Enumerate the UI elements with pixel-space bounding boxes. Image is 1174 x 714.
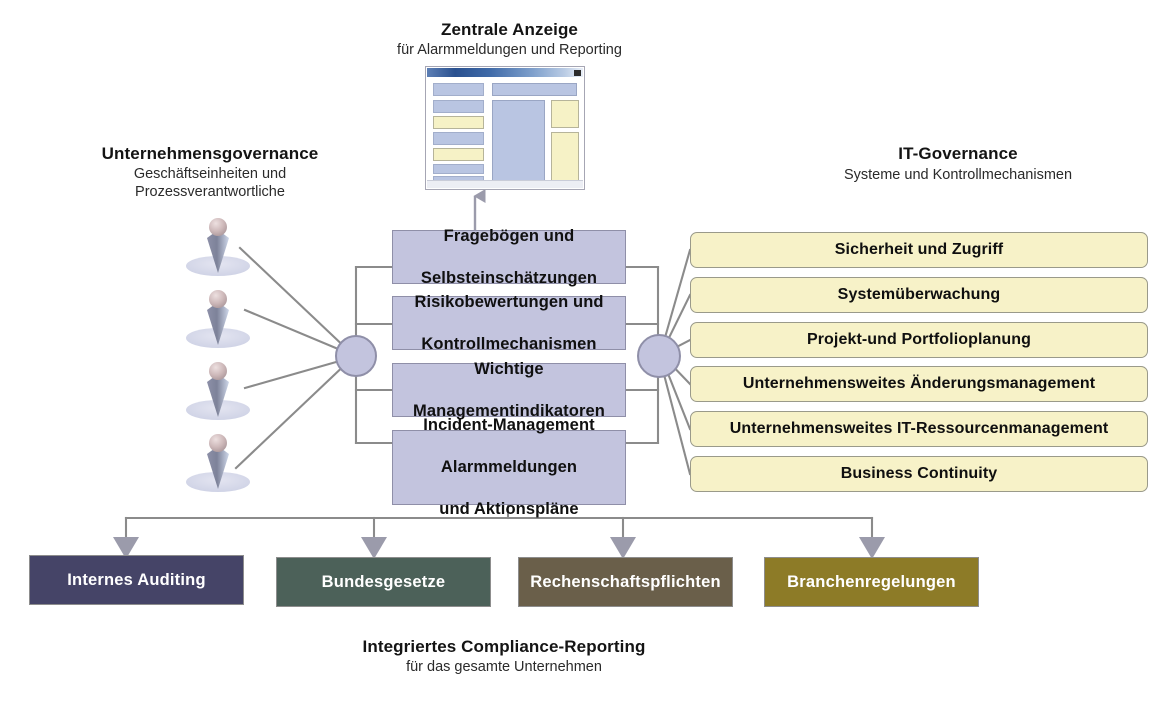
compliance-box-industry-regulations[interactable]: Branchenregelungen: [764, 557, 979, 607]
process-box-line-3: und Aktionspläne: [417, 499, 601, 520]
process-box-incident-management[interactable]: Incident-Management Alarmmeldungen und A…: [392, 430, 626, 505]
stakeholder-icon-3: [182, 360, 254, 422]
compliance-box-label: Branchenregelungen: [787, 573, 956, 592]
diagram-canvas: Zentrale Anzeige für Alarmmeldungen und …: [0, 0, 1174, 714]
thumbnail-header-pane: [492, 83, 577, 96]
thumbnail-title-bar: [427, 68, 583, 77]
thumbnail-nav-row-alert: [433, 148, 484, 161]
process-box-management-indicators[interactable]: Wichtige Managementindikatoren: [392, 363, 626, 417]
process-box-line-1: Wichtige: [407, 359, 611, 380]
it-box-business-continuity[interactable]: Business Continuity: [690, 456, 1148, 492]
left-heading-subtitle-2: Prozessverantwortliche: [40, 183, 380, 202]
it-box-label: Sicherheit und Zugriff: [835, 241, 1003, 259]
it-box-change-management[interactable]: Unternehmensweites Änderungsmanagement: [690, 366, 1148, 402]
process-box-line-2: Kontrollmechanismen: [408, 334, 609, 355]
it-box-project-portfolio[interactable]: Projekt-und Portfolioplanung: [690, 322, 1148, 358]
process-box-line-2: Alarmmeldungen: [417, 457, 601, 478]
process-box-line-2: Selbsteinschätzungen: [415, 268, 603, 289]
right-heading-title: IT-Governance: [768, 144, 1148, 164]
it-box-system-monitoring[interactable]: Systemüberwachung: [690, 277, 1148, 313]
it-box-label: Unternehmensweites IT-Ressourcenmanageme…: [730, 420, 1109, 438]
bottom-heading-title: Integriertes Compliance-Reporting: [304, 637, 704, 657]
process-box-line-1: Risikobewertungen und: [408, 292, 609, 313]
process-box-questionnaires[interactable]: Fragebögen und Selbsteinschätzungen: [392, 230, 626, 284]
left-heading-title: Unternehmensgovernance: [40, 144, 380, 164]
thumbnail-report-pane: [551, 132, 579, 181]
compliance-box-label: Rechenschaftspflichten: [530, 573, 721, 592]
stakeholder-icon-2: [182, 288, 254, 350]
process-box-line-1: Incident-Management: [417, 415, 601, 436]
thumbnail-nav-row: [433, 83, 484, 96]
it-box-label: Systemüberwachung: [838, 286, 1001, 304]
it-box-label: Business Continuity: [841, 465, 998, 483]
stakeholder-icon-1: [182, 216, 254, 278]
process-box-line-1: Fragebögen und: [415, 226, 603, 247]
left-hub-node: [330, 330, 382, 382]
it-box-label: Projekt-und Portfolioplanung: [807, 331, 1031, 349]
top-heading-title: Zentrale Anzeige: [337, 20, 682, 40]
central-console-thumbnail[interactable]: [425, 66, 585, 190]
thumbnail-main-pane: [492, 100, 545, 181]
compliance-box-label: Internes Auditing: [67, 571, 205, 590]
compliance-box-accountability[interactable]: Rechenschaftspflichten: [518, 557, 733, 607]
thumbnail-nav-row: [433, 164, 484, 174]
left-heading-subtitle-1: Geschäftseinheiten und: [40, 165, 380, 184]
thumbnail-alert-pane: [551, 100, 579, 128]
compliance-box-internal-auditing[interactable]: Internes Auditing: [29, 555, 244, 605]
right-hub-node: [632, 329, 686, 383]
thumbnail-status-bar: [427, 180, 583, 188]
compliance-box-federal-laws[interactable]: Bundesgesetze: [276, 557, 491, 607]
top-heading-subtitle: für Alarmmeldungen und Reporting: [337, 41, 682, 60]
stakeholder-icon-4: [182, 432, 254, 494]
it-box-security-access[interactable]: Sicherheit und Zugriff: [690, 232, 1148, 268]
it-box-label: Unternehmensweites Änderungsmanagement: [743, 375, 1095, 393]
right-heading-subtitle: Systeme und Kontrollmechanismen: [768, 166, 1148, 185]
bottom-heading-subtitle: für das gesamte Unternehmen: [304, 658, 704, 677]
process-box-risk-assessment[interactable]: Risikobewertungen und Kontrollmechanisme…: [392, 296, 626, 350]
thumbnail-nav-row-alert: [433, 116, 484, 129]
it-box-resource-management[interactable]: Unternehmensweites IT-Ressourcenmanageme…: [690, 411, 1148, 447]
thumbnail-nav-row: [433, 100, 484, 113]
compliance-box-label: Bundesgesetze: [322, 573, 446, 592]
thumbnail-window-control-icon: [574, 70, 581, 76]
thumbnail-nav-row: [433, 132, 484, 145]
